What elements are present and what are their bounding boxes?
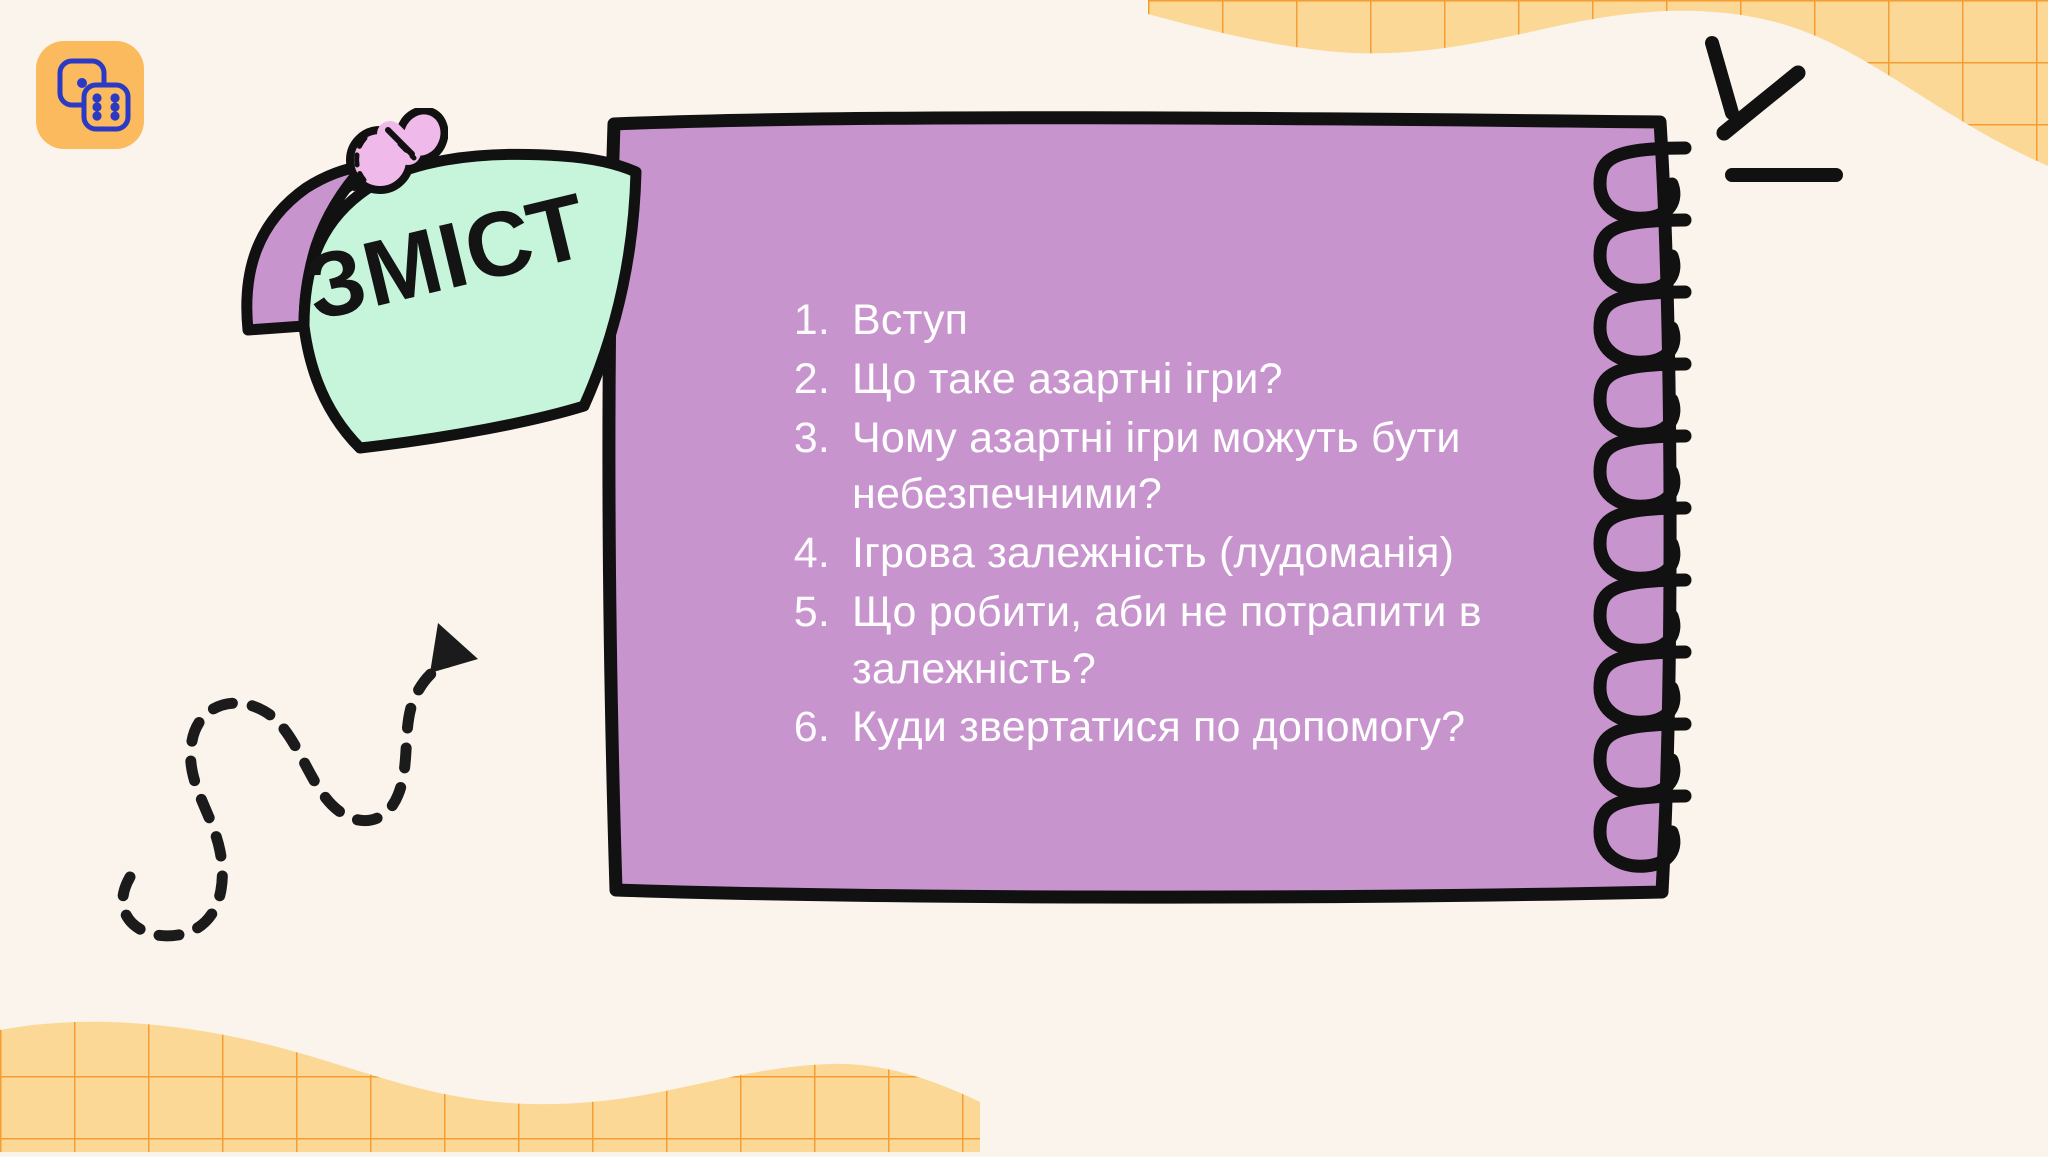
list-item-number: 5. [770, 584, 852, 641]
list-item-number: 6. [770, 699, 852, 756]
list-item: 3. Чому азартні ігри можуть бути небезпе… [770, 410, 1550, 524]
list-item-number: 3. [770, 410, 852, 467]
list-item: 2. Що таке азартні ігри? [770, 351, 1550, 408]
burst-lines-icon [1690, 35, 1920, 215]
list-item: 4. Ігрова залежність (лудоманія) [770, 525, 1550, 582]
list-item-number: 2. [770, 351, 852, 408]
list-item: 6. Куди звертатися по допомогу? [770, 699, 1550, 756]
list-item-label: Вступ [852, 292, 1550, 349]
dice-icon [36, 41, 144, 149]
dashed-curved-arrow-icon [100, 615, 490, 945]
torn-grid-paper-bottom-left [0, 952, 980, 1152]
list-item: 5. Що робити, аби не потрапити в залежні… [770, 584, 1550, 698]
list-item-label: Що таке азартні ігри? [852, 351, 1550, 408]
list-item-number: 4. [770, 525, 852, 582]
list-item-label: Куди звертатися по допомогу? [852, 699, 1550, 756]
list-item-label: Ігрова залежність (лудоманія) [852, 525, 1550, 582]
list-item-label: Чому азартні ігри можуть бути небезпечни… [852, 410, 1550, 524]
list-item-label: Що робити, аби не потрапити в залежність… [852, 584, 1550, 698]
table-of-contents-list: 1. Вступ 2. Що таке азартні ігри? 3. Чом… [770, 292, 1550, 758]
dice-logo[interactable] [36, 41, 144, 149]
push-pin-icon [318, 108, 448, 218]
slide-canvas: 1. Вступ 2. Що таке азартні ігри? 3. Чом… [0, 0, 2048, 1152]
list-item: 1. Вступ [770, 292, 1550, 349]
list-item-number: 1. [770, 292, 852, 349]
